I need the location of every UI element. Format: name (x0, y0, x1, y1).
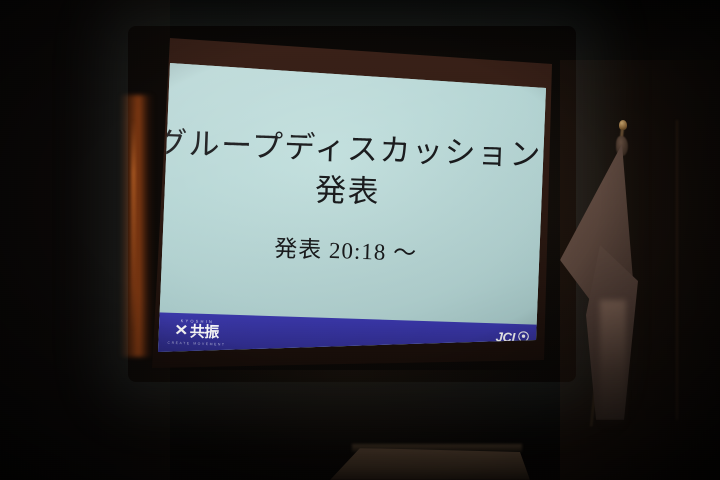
kyoshin-logo-mark-row: ✕ 共振 (155, 322, 240, 342)
flag-finial (619, 120, 627, 130)
slide-title-line-2: 発表 (315, 172, 381, 211)
screenshot-root: グループディスカッション 発表 発表 20:18 〜 KYOSHIN ✕ 共振 … (0, 0, 720, 480)
presentation-slide: グループディスカッション 発表 発表 20:18 〜 KYOSHIN ✕ 共振 … (152, 52, 552, 365)
screen-surface: グループディスカッション 発表 発表 20:18 〜 KYOSHIN ✕ 共振 … (152, 38, 552, 368)
slide-title-line-1: グループディスカッション (156, 125, 543, 173)
kyoshin-cross-icon: ✕ (174, 324, 189, 339)
flag-highlight (600, 300, 626, 430)
slide-subtitle-time: 発表 20:18 〜 (274, 230, 418, 269)
presentation-table (330, 448, 530, 480)
kyoshin-logo: KYOSHIN ✕ 共振 CREATE MOVEMENT (154, 317, 239, 350)
kyoshin-logo-kanji: 共振 (190, 324, 220, 341)
slide-body: グループディスカッション 発表 発表 20:18 〜 (152, 52, 552, 327)
